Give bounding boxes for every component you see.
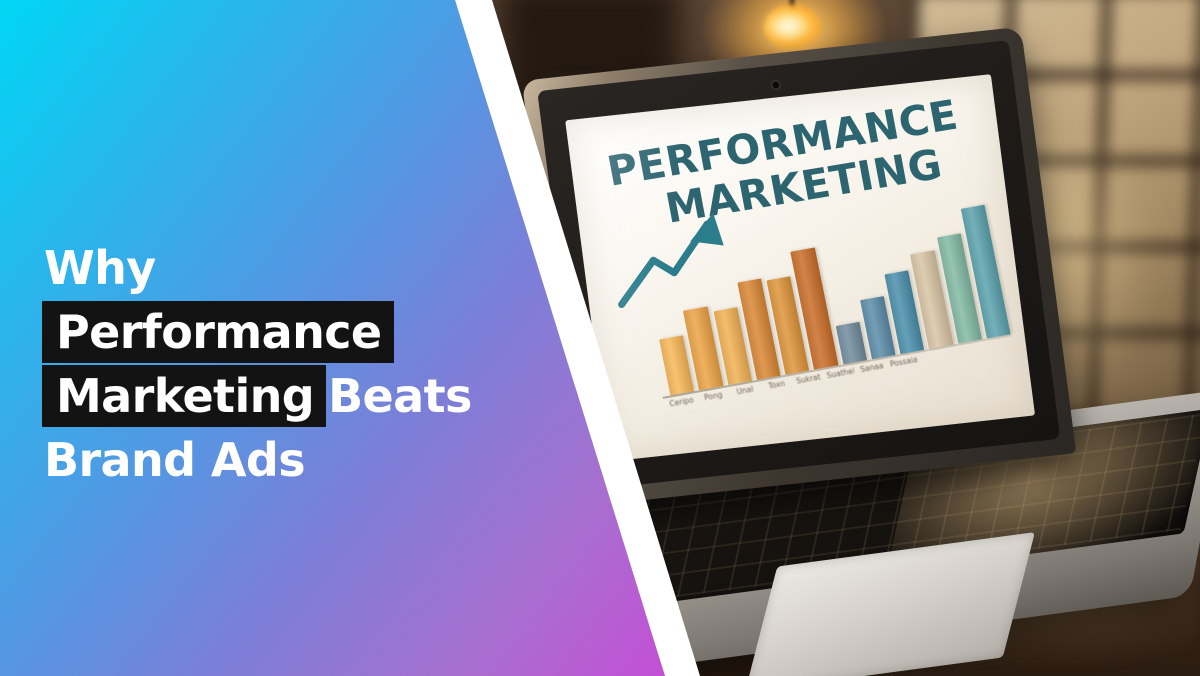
chart-tick-label: Toxn (762, 378, 793, 404)
headline-segment-3-2: Beats (326, 365, 472, 427)
chart-tick-label (984, 338, 1015, 364)
slide-bar-chart: CeripoPongUnalToxnSukratSuathekSanaaPoss… (610, 181, 1015, 424)
headline-line-4: Brand Ads (42, 428, 572, 492)
headline-line-3: Marketing Beats (42, 364, 572, 428)
chart-tick-label (953, 344, 984, 370)
chart-tick-label: Pong (699, 390, 730, 416)
chart-bar (835, 322, 867, 365)
headline-segment-1-1: Why (42, 237, 156, 299)
chart-tick-label: Possaia (889, 355, 920, 381)
chart-tick-label: Unal (731, 384, 762, 410)
laptop-screen[interactable]: PERFORMANCE MARKETING CeripoPo (565, 74, 1035, 461)
banner-canvas: PERFORMANCE MARKETING CeripoPo (0, 0, 1200, 676)
chart-tick-label: Ceripo (667, 395, 698, 421)
page-title: WhyPerformanceMarketing BeatsBrand Ads (42, 236, 572, 492)
headline-segment-4-1: Brand Ads (42, 429, 305, 491)
chart-tick-label: Sukrat (794, 372, 825, 398)
chart-tick-label: Sanaa (858, 361, 889, 387)
headline-segment-2-1: Performance (42, 301, 394, 363)
chart-tick-label: Suathek (826, 367, 857, 393)
headline-line-2: Performance (42, 300, 572, 364)
headline-segment-3-1: Marketing (42, 365, 326, 427)
webcam-icon (772, 81, 780, 89)
headline-line-1: Why (42, 236, 572, 300)
chart-tick-label (921, 350, 952, 376)
